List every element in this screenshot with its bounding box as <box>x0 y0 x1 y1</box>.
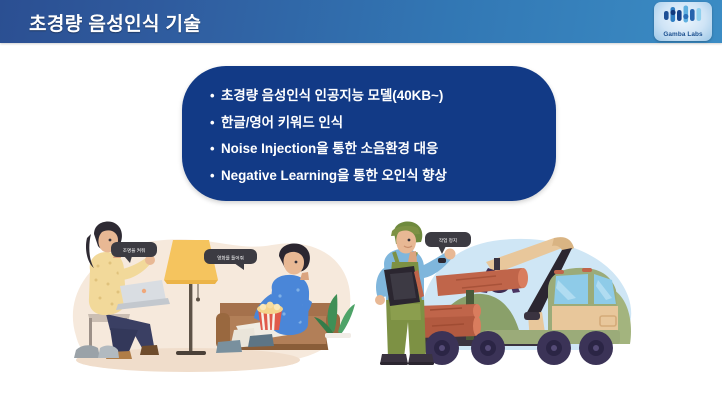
gamba-labs-logo: Gamba Labs <box>654 2 712 41</box>
page-title: 초경량 음성인식 기술 <box>29 9 201 36</box>
feature-highlight-box: 초경량 음성인식 인공지능 모델(40KB~) 한글/영어 키워드 인식 Noi… <box>182 66 556 201</box>
forestry-logging-illustration: 작업 정지 <box>366 218 666 393</box>
speech-bubble-man-text: 영화를 틀어줘 <box>217 255 244 262</box>
list-item: 초경량 음성인식 인공지능 모델(40KB~) <box>210 83 544 110</box>
slide-canvas: 초경량 음성인식 기술 Gamba Labs 초경량 음성인식 인공지능 모델(… <box>0 0 722 407</box>
speech-bubble-woman-text: 조명을 켜줘 <box>123 247 145 254</box>
list-item: Noise Injection을 통한 소음환경 대응 <box>210 136 544 163</box>
list-item: Negative Learning을 통한 오인식 향상 <box>210 163 544 190</box>
home-living-room-illustration: 조명을 켜줘 <box>58 218 358 393</box>
feature-bullet-list: 초경량 음성인식 인공지능 모델(40KB~) 한글/영어 키워드 인식 Noi… <box>210 83 544 189</box>
slippers <box>74 345 119 358</box>
logo-text: Gamba Labs <box>654 31 712 38</box>
slide-header: 초경량 음성인식 기술 Gamba Labs <box>0 0 722 43</box>
list-item: 한글/영어 키워드 인식 <box>210 110 544 137</box>
audio-waveform-bars-icon <box>654 4 712 25</box>
speech-bubble-worker-text: 작업 정지 <box>439 237 457 244</box>
